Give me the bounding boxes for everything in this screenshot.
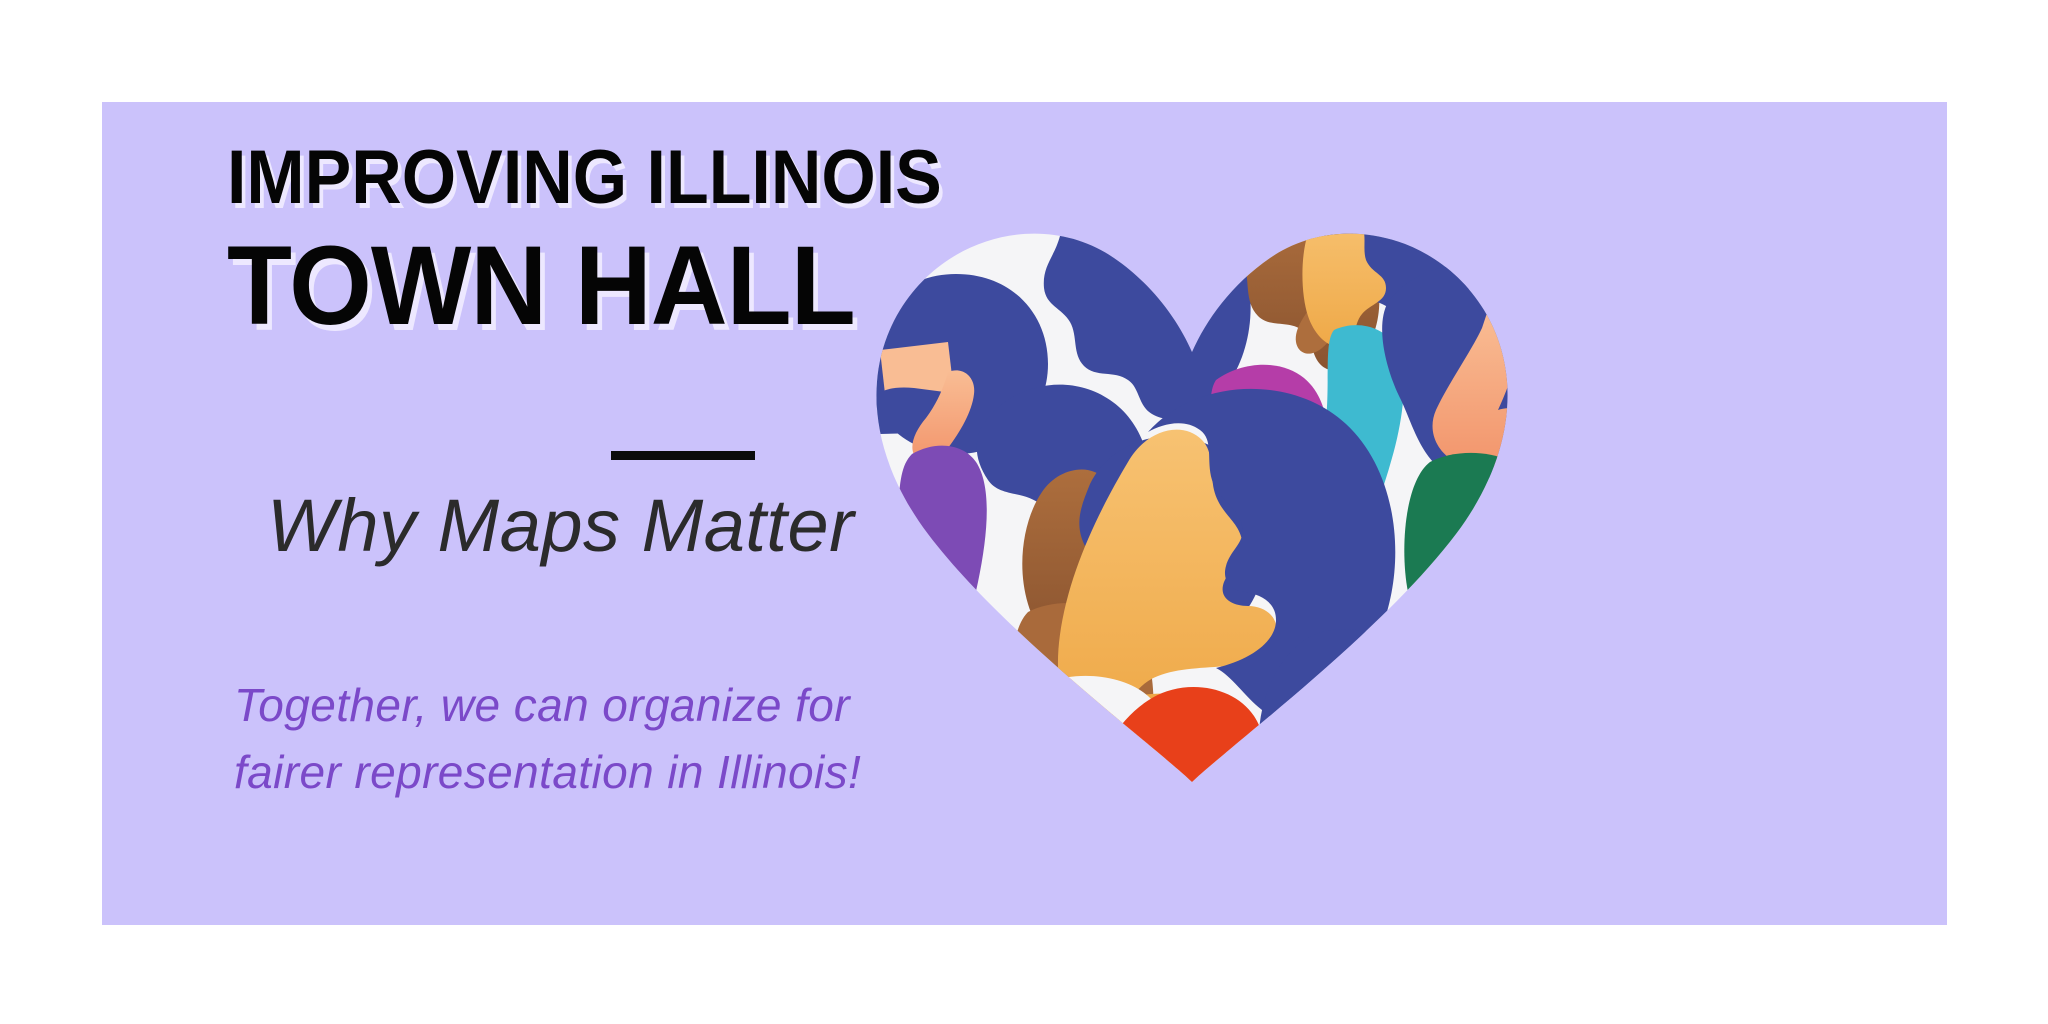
- poster-headline: TOWN HALL: [227, 230, 855, 342]
- poster-kicker: IMPROVING ILLINOIS: [227, 140, 942, 216]
- divider-rule: [611, 451, 755, 460]
- poster-panel: IMPROVING ILLINOIS TOWN HALL Why Maps Ma…: [102, 102, 1947, 925]
- poster-canvas: IMPROVING ILLINOIS TOWN HALL Why Maps Ma…: [0, 0, 2048, 1024]
- poster-subhead: Why Maps Matter: [267, 487, 854, 565]
- poster-tagline-line-2: fairer representation in Illinois!: [234, 739, 934, 806]
- heart-of-diverse-people-illustration: [852, 162, 1532, 782]
- poster-tagline-line-1: Together, we can organize for: [234, 672, 934, 739]
- poster-tagline: Together, we can organize for fairer rep…: [234, 672, 934, 805]
